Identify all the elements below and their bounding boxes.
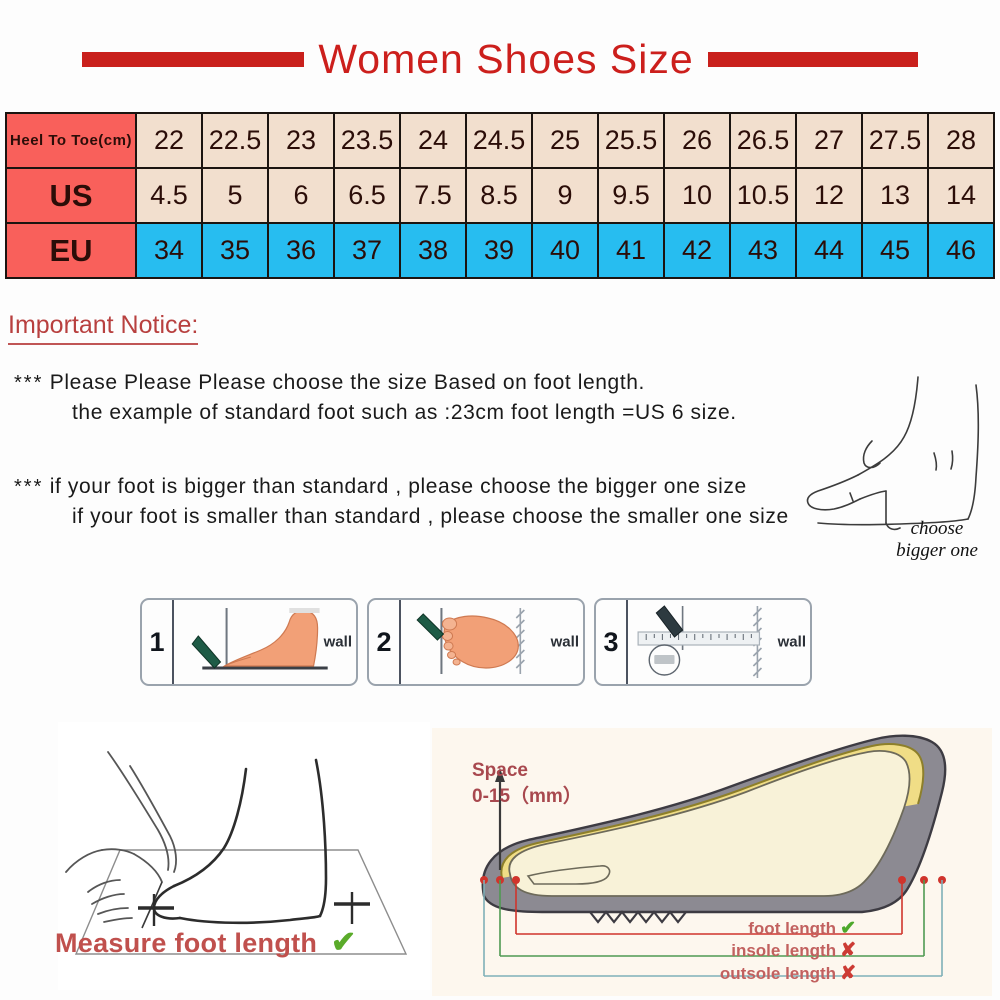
cell-us: 14 [928,168,994,223]
legend-foot-length: foot length✔ [556,918,856,940]
row-header-heel-to-toe: Heel To Toe(cm) [6,113,136,168]
step-number: 1 [142,600,174,684]
size-chart-page: Women Shoes Size Heel To Toe(cm) 22 22.5… [0,0,1000,1000]
cross-icon: ✘ [840,963,856,984]
cell-us: 6 [268,168,334,223]
cell-cm: 22 [136,113,202,168]
cell-us: 10 [664,168,730,223]
cell-eu: 36 [268,223,334,278]
wall-label: wall [778,634,806,651]
cell-cm: 23.5 [334,113,400,168]
cell-cm: 24.5 [466,113,532,168]
space-label-line2: 0-15（mm） [472,784,582,810]
cell-cm: 26.5 [730,113,796,168]
cell-eu: 46 [928,223,994,278]
cell-eu: 39 [466,223,532,278]
cell-eu: 43 [730,223,796,278]
cell-us: 8.5 [466,168,532,223]
notice-line: *** Please Please Please choose the size… [14,368,737,398]
step-illustration-ruler: wall [628,600,810,684]
notice-group-two: *** if your foot is bigger than standard… [14,472,789,533]
notice-group-one: *** Please Please Please choose the size… [14,368,737,429]
notice-line: *** if your foot is bigger than standard… [14,472,789,502]
wall-label: wall [324,634,352,651]
cross-icon: ✘ [840,940,856,961]
cell-eu: 35 [202,223,268,278]
cell-eu: 41 [598,223,664,278]
table-row-cm: Heel To Toe(cm) 22 22.5 23 23.5 24 24.5 … [6,113,994,168]
space-label: Space 0-15（mm） [472,758,582,809]
cell-us: 10.5 [730,168,796,223]
shoe-cross-section-diagram: Space 0-15（mm） foot length✔ insole lengt… [432,728,992,996]
wall-label: wall [551,634,579,651]
check-icon: ✔ [331,926,356,959]
step-illustration-top-view: wall [401,600,583,684]
page-title-row: Women Shoes Size [0,28,1000,90]
notice-stars: *** [14,372,43,394]
legend-insole-length: insole length✘ [556,940,856,962]
notice-line: the example of standard foot such as :23… [14,398,737,428]
table-row-eu: EU 34 35 36 37 38 39 40 41 42 43 44 45 4… [6,223,994,278]
table-row-us: US 4.5 5 6 6.5 7.5 8.5 9 9.5 10 10.5 12 … [6,168,994,223]
cell-eu: 42 [664,223,730,278]
step-panel-2: 2 [367,598,585,686]
caption-line-2: bigger one [862,540,1000,562]
cell-us: 9.5 [598,168,664,223]
cell-eu: 37 [334,223,400,278]
notice-stars: *** [14,476,43,498]
step-number: 3 [596,600,628,684]
cell-cm: 27 [796,113,862,168]
cell-us: 7.5 [400,168,466,223]
notice-text: Please Please Please choose the size Bas… [50,371,645,394]
cell-us: 6.5 [334,168,400,223]
cell-us: 4.5 [136,168,202,223]
measure-caption-text: Measure foot length [55,928,317,958]
cell-us: 12 [796,168,862,223]
legend-label: outsole length [720,964,836,983]
cell-eu: 44 [796,223,862,278]
caption-line-1: choose [862,518,1000,540]
cell-eu: 45 [862,223,928,278]
important-notice-heading: Important Notice: [8,312,198,345]
row-header-eu: EU [6,223,136,278]
cell-cm: 25 [532,113,598,168]
cell-eu: 40 [532,223,598,278]
cell-us: 5 [202,168,268,223]
measure-foot-caption: Measure foot length ✔ [55,925,356,960]
title-rule-right [708,52,918,67]
step-panel-1: 1 wall [140,598,358,686]
size-conversion-table: Heel To Toe(cm) 22 22.5 23 23.5 24 24.5 … [5,112,995,279]
legend-label: insole length [731,941,836,960]
notice-line: if your foot is smaller than standard , … [14,502,789,532]
cell-us: 13 [862,168,928,223]
length-legend: foot length✔ insole length✘ outsole leng… [556,918,856,985]
cell-eu: 34 [136,223,202,278]
foot-sketch-caption: choose bigger one [862,518,1000,562]
title-rule-left [82,52,304,67]
row-header-us: US [6,168,136,223]
step-panel-3: 3 [594,598,812,686]
measure-steps: 1 wall 2 [140,598,812,686]
cell-eu: 38 [400,223,466,278]
notice-text: if your foot is bigger than standard , p… [50,475,747,498]
space-label-line1: Space [472,758,582,784]
cell-cm: 22.5 [202,113,268,168]
cell-cm: 27.5 [862,113,928,168]
cell-cm: 25.5 [598,113,664,168]
page-title: Women Shoes Size [318,36,693,83]
cell-us: 9 [532,168,598,223]
cell-cm: 28 [928,113,994,168]
cell-cm: 26 [664,113,730,168]
check-icon: ✔ [840,918,856,939]
step-number: 2 [369,600,401,684]
legend-label: foot length [748,919,836,938]
legend-outsole-length: outsole length✘ [556,963,856,985]
cell-cm: 24 [400,113,466,168]
cell-cm: 23 [268,113,334,168]
step-illustration-side-view: wall [174,600,356,684]
